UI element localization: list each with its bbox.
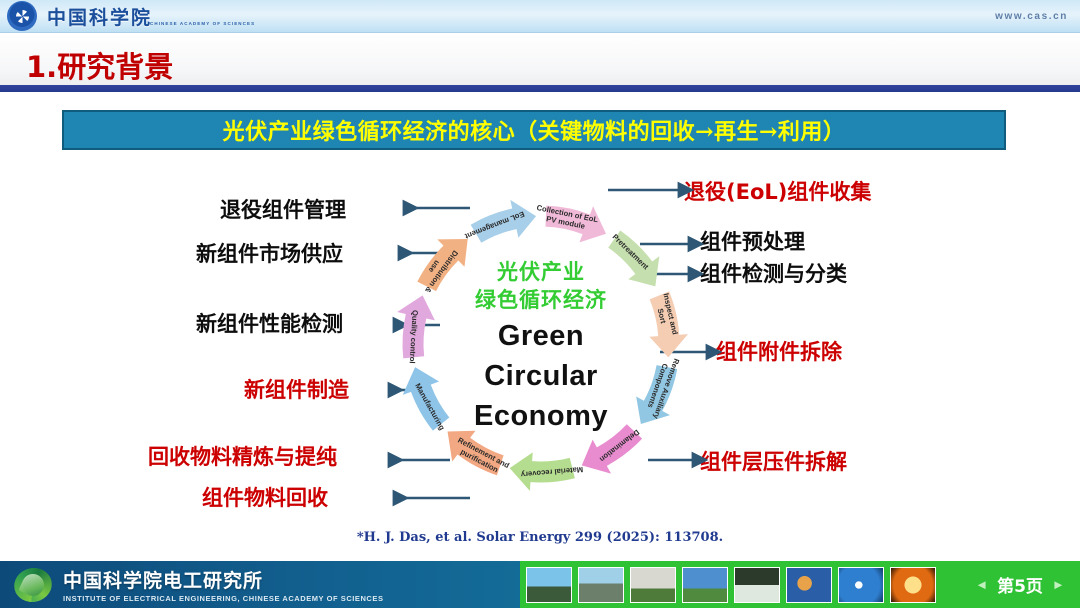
header-divider bbox=[0, 85, 1080, 92]
institute-name-cn: 中国科学院电工研究所 bbox=[63, 566, 384, 593]
next-page-icon[interactable]: ► bbox=[1052, 577, 1065, 592]
page-title: 1.研究背景 bbox=[26, 44, 173, 86]
cas-website-url: www.cas.cn bbox=[995, 11, 1068, 22]
cas-org-name-cn: 中国科学院 bbox=[47, 3, 152, 30]
footer-thumbnail-strip bbox=[520, 561, 960, 608]
circular-arrow-ring: Collection of EoLPV modulePretreatmentIn… bbox=[386, 172, 696, 517]
thumbnail-image bbox=[838, 567, 884, 603]
page-number-label: 第5页 bbox=[997, 572, 1043, 597]
thumbnail-image bbox=[786, 567, 832, 603]
thumbnail-image bbox=[578, 567, 624, 603]
cas-logo-icon bbox=[7, 1, 37, 31]
source-citation: *H. J. Das, et al. Solar Energy 299 (202… bbox=[0, 530, 1080, 545]
institute-name-en: INSTITUTE OF ELECTRICAL ENGINEERING, CHI… bbox=[63, 594, 384, 603]
center-title-en-3: Economy bbox=[386, 400, 696, 433]
center-title-cn-1: 光伏产业 bbox=[386, 256, 696, 286]
topic-banner: 光伏产业绿色循环经济的核心（关键物料的回收→再生→利用） bbox=[62, 110, 1006, 150]
center-title-cn-2: 绿色循环经济 bbox=[386, 284, 696, 314]
thumbnail-image bbox=[734, 567, 780, 603]
cas-header-band: 中国科学院 CHINESE ACADEMY OF SCIENCES www.ca… bbox=[0, 0, 1080, 33]
circular-economy-diagram: 退役组件管理 新组件市场供应 新组件性能检测 新组件制造 回收物料精炼与提纯 组… bbox=[0, 160, 1080, 545]
prev-page-icon[interactable]: ◄ bbox=[975, 577, 988, 592]
institute-names: 中国科学院电工研究所 INSTITUTE OF ELECTRICAL ENGIN… bbox=[63, 566, 384, 603]
topic-banner-text: 光伏产业绿色循环经济的核心（关键物料的回收→再生→利用） bbox=[223, 114, 846, 146]
center-title-en-2: Circular bbox=[386, 360, 696, 393]
page-navigator[interactable]: ◄ 第5页 ► bbox=[960, 561, 1080, 608]
thumbnail-image bbox=[890, 567, 936, 603]
thumbnail-image bbox=[630, 567, 676, 603]
center-title-en-1: Green bbox=[386, 320, 696, 353]
thumbnail-image bbox=[526, 567, 572, 603]
cas-org-name-en: CHINESE ACADEMY OF SCIENCES bbox=[150, 21, 255, 26]
thumbnail-image bbox=[682, 567, 728, 603]
iee-logo-icon bbox=[14, 568, 52, 602]
